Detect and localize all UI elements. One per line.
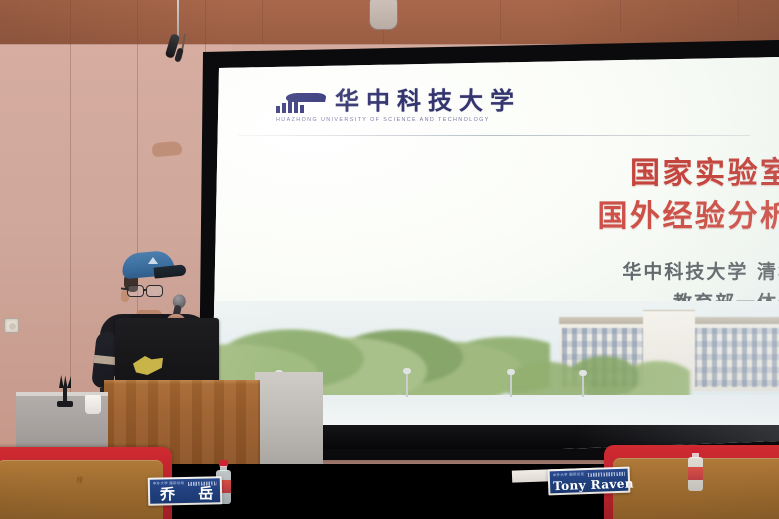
wall-seam (500, 0, 501, 40)
wall-speaker-icon (369, 0, 398, 30)
glasses-bridge (143, 289, 147, 291)
slide-subtitle-line-1: 华中科技大学 清华大学 (241, 257, 779, 288)
slide-title-line-1: 国家实验室创 (265, 153, 779, 196)
paper-cup (85, 395, 101, 414)
cap-brim (154, 264, 187, 278)
placard-header-bar (187, 481, 216, 486)
lecture-hall-photo: 华中科技大学 HUAZHONG UNIVERSITY OF SCIENCE AN… (0, 0, 779, 519)
placard-name: 乔 岳 (153, 486, 217, 502)
auditorium-chair-left: 座 (0, 447, 172, 519)
name-placard-qiao-yue: 中外大学 国际论坛 乔 岳 (148, 476, 223, 506)
logo-english-name: HUAZHONG UNIVERSITY OF SCIENCE AND TECHN… (276, 117, 490, 123)
wall-seam (620, 0, 621, 32)
laptop (115, 318, 219, 384)
hust-logo-mark-icon (276, 93, 326, 113)
slide-title: 国家实验室创 国外经验分析与 (265, 153, 779, 238)
photo-lamp-post (406, 373, 408, 397)
logo-chinese-name: 华中科技大学 (335, 89, 521, 113)
name-placard-tony-raven: 中外大学 国际论坛 Tony Raven (548, 467, 631, 496)
hust-logo: 华中科技大学 (276, 89, 521, 113)
glasses-left-lens (127, 285, 144, 297)
glasses-right-lens (146, 285, 163, 297)
chair-cushion (0, 460, 163, 519)
speaker-hand-on-podium (151, 141, 182, 158)
slide-title-line-2: 国外经验分析与 (265, 196, 779, 239)
wall-outlet (4, 318, 19, 333)
placard-header-text: 中外大学 国际论坛 (553, 473, 585, 478)
wall-seam (262, 0, 263, 44)
podium-right-panel (255, 372, 323, 464)
placard-name: Tony Raven (553, 478, 625, 493)
wall-seam (738, 0, 739, 26)
chair-logo-label: 座 (76, 475, 84, 485)
photo-lamp-post (510, 374, 512, 397)
laptop-sticker-icon (133, 356, 163, 375)
photo-lamp-post (582, 375, 584, 397)
desk-mic-clip-icon (57, 375, 73, 407)
slide-header-divider (238, 135, 750, 136)
